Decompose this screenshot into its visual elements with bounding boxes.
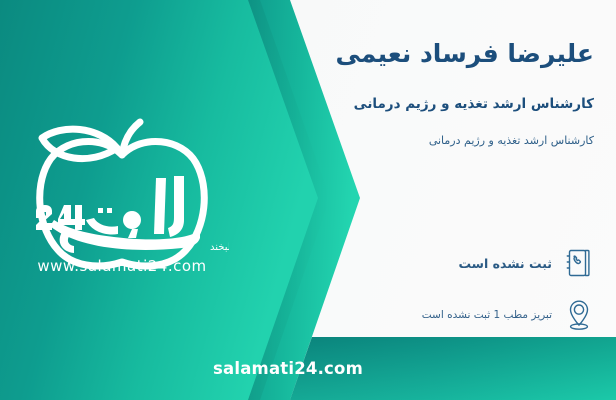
logo-website: www.salamati24.com xyxy=(37,257,206,275)
contact-row-phone[interactable]: ثبت نشده است xyxy=(264,246,594,280)
footer-domain-label[interactable]: salamati24.com xyxy=(0,337,616,400)
logo-tagline: برای یک لبخند xyxy=(210,242,229,253)
logo-wordmark xyxy=(50,176,200,253)
business-card: برای یک لبخند www.salamati24.com علیرضا … xyxy=(0,0,616,400)
contact-row-location-value: تبریز مطب 1 ثبت نشده است xyxy=(422,309,552,321)
contact-row-location[interactable]: تبریز مطب 1 ثبت نشده است xyxy=(264,298,594,332)
contact-info-list: ثبت نشده است تبریز مطب 1 ثبت نشده است xyxy=(264,246,594,350)
brand-logo: برای یک لبخند www.salamati24.com xyxy=(14,108,229,278)
contact-row-phone-value: ثبت نشده است xyxy=(458,256,552,271)
page-title: علیرضا فرساد نعیمی xyxy=(336,38,594,69)
specialty-primary: کارشناس ارشد تغذیه و رژیم درمانی xyxy=(354,96,594,112)
specialty-secondary: کارشناس ارشد تغذیه و رژیم درمانی xyxy=(429,134,594,147)
location-pin-icon xyxy=(564,298,594,332)
phone-book-icon xyxy=(564,246,594,280)
apple-leaf-logo-icon: برای یک لبخند www.salamati24.com xyxy=(14,108,229,278)
